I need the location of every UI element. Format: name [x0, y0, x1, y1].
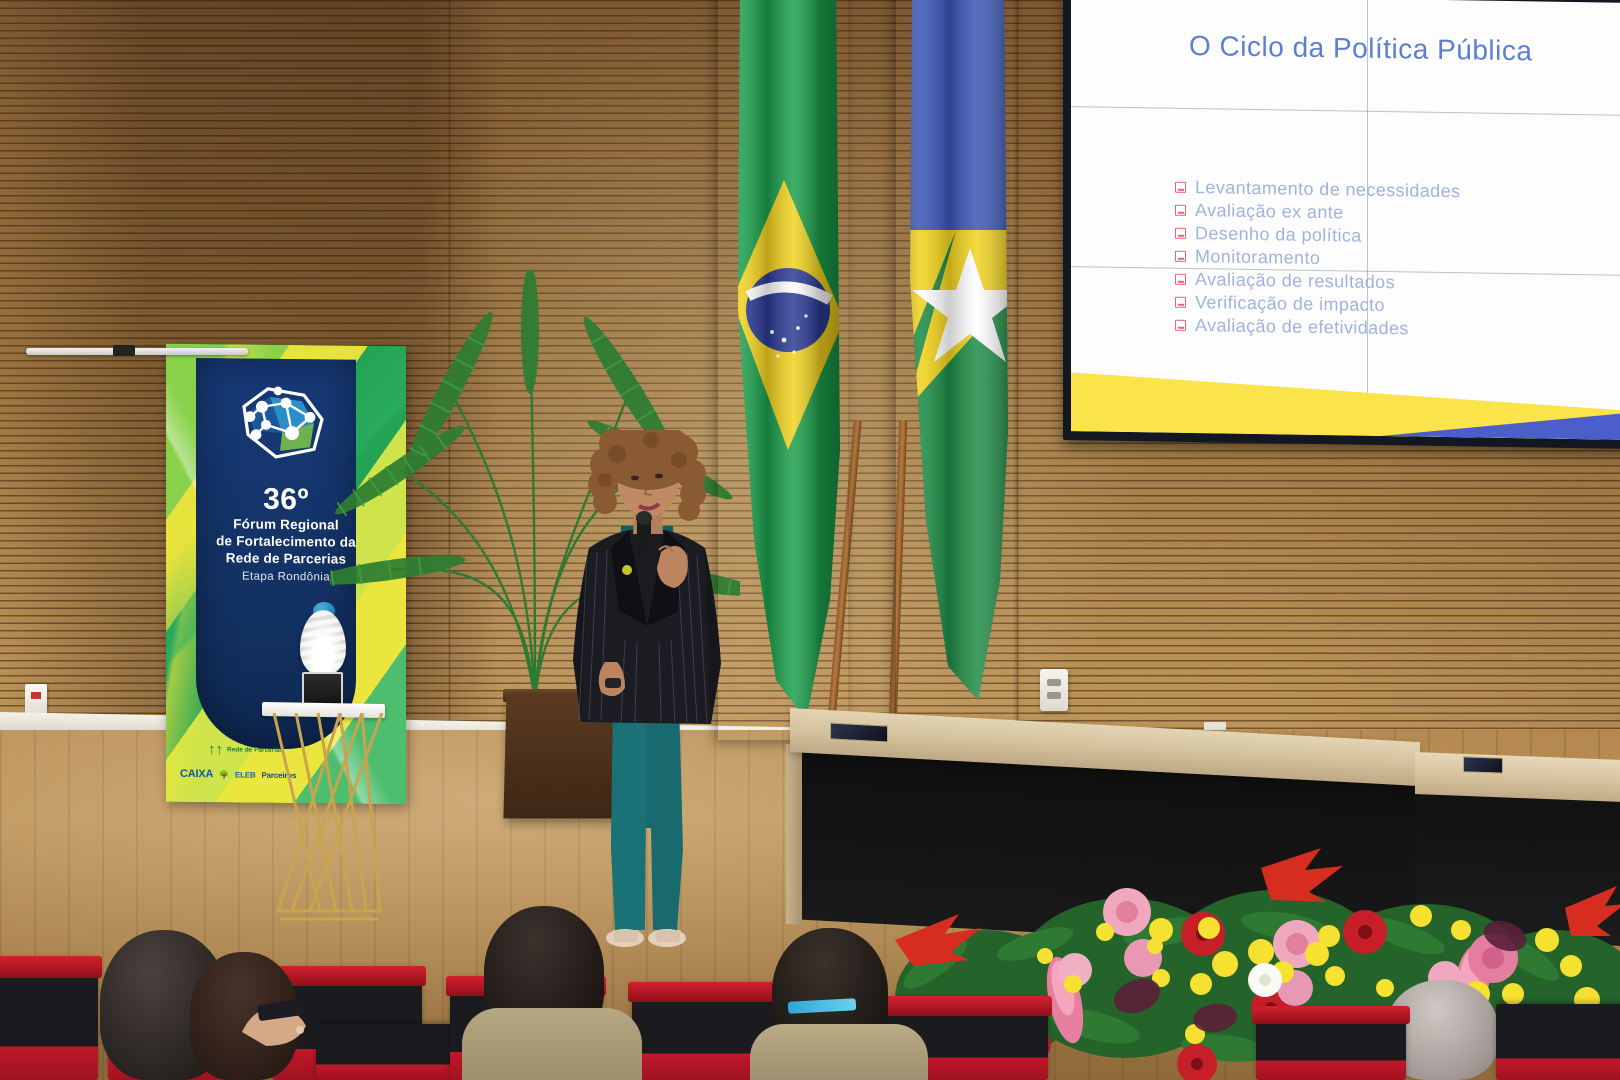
- auditorium-photo: O Ciclo da Política Pública Levantamento…: [0, 0, 1620, 1080]
- bullet-label: Avaliação de resultados: [1195, 269, 1395, 293]
- audience-person-uniform: [750, 1024, 928, 1080]
- audience-seat: [1496, 1004, 1620, 1080]
- bullet-label: Avaliação de efetividades: [1195, 315, 1409, 339]
- slide-bullet-list: Levantamento de necessidades Avaliação e…: [1175, 176, 1605, 344]
- banner-rod-clip: [113, 345, 135, 356]
- audience-hand-with-phone: [236, 986, 328, 1050]
- screen-panel-seam: [1071, 106, 1620, 116]
- bullet-marker-icon: [1175, 205, 1186, 216]
- light-switch[interactable]: [25, 684, 47, 714]
- slide-title: O Ciclo da Política Pública: [1189, 24, 1609, 74]
- bullet-marker-icon: [1175, 182, 1186, 193]
- sponsor-mark: 🌳: [219, 770, 229, 779]
- bullet-marker-icon: [1175, 320, 1186, 331]
- bullet-marker-icon: [1175, 228, 1186, 239]
- white-flower: [1248, 963, 1282, 997]
- wall-seam: [1016, 0, 1019, 790]
- rondonia-flag: [896, 0, 1014, 720]
- bullet-label: Verificação de impacto: [1195, 292, 1385, 316]
- stage-table-side: [786, 744, 802, 925]
- wall-outlet[interactable]: [1040, 669, 1068, 711]
- audience-seat-back: [1252, 1006, 1410, 1024]
- audience-seat-back: [268, 966, 426, 986]
- bullet-label: Monitoramento: [1195, 246, 1320, 269]
- audience-seat: [0, 960, 98, 1080]
- bullet-marker-icon: [1175, 251, 1186, 262]
- bullet-marker-icon: [1175, 297, 1186, 308]
- audience-person-uniform: [462, 1008, 642, 1080]
- wall-plate: [1204, 722, 1226, 730]
- bullet-marker-icon: [1175, 274, 1186, 285]
- microphone: [636, 511, 652, 556]
- partner-arrow-icon: ↑↑: [208, 742, 223, 757]
- screen-surface: O Ciclo da Política Pública Levantamento…: [1071, 0, 1620, 440]
- speaker-person: [555, 430, 740, 955]
- table-cable-port[interactable]: [830, 722, 888, 742]
- audience-seat-back: [0, 956, 102, 978]
- network-logo-icon: [226, 372, 334, 469]
- presentation-screen[interactable]: O Ciclo da Política Pública Levantamento…: [1063, 0, 1620, 449]
- bullet-label: Avaliação ex ante: [1195, 200, 1344, 223]
- sponsor-logo-caixa: CAIXA: [180, 768, 213, 780]
- banner-top-rod: [26, 348, 248, 355]
- bullet-label: Desenho da política: [1195, 223, 1362, 247]
- sponsor-logo-eleb: ELEB: [235, 770, 256, 779]
- bullet-label: Levantamento de necessidades: [1195, 177, 1460, 202]
- table-2-cable-port[interactable]: [1463, 756, 1503, 773]
- audience-seat-back: [862, 996, 1052, 1016]
- speaker-lapel-pin: [622, 565, 632, 575]
- stage-table-2-top: [1415, 752, 1620, 802]
- display-stand-legs: [266, 713, 390, 925]
- presenter-clicker: [605, 678, 621, 688]
